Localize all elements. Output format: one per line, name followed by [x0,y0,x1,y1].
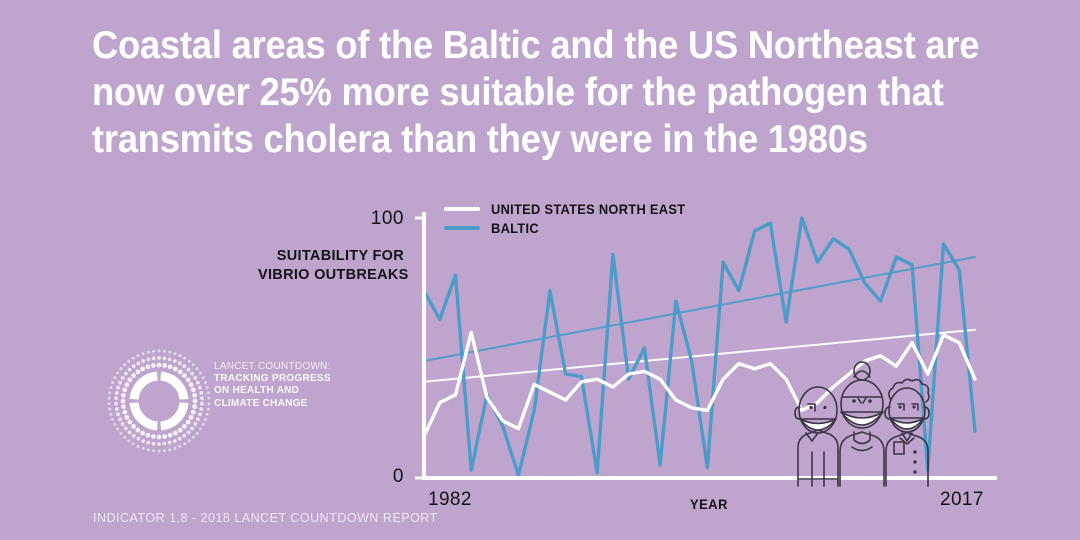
logo-dot [193,399,198,404]
logo-dot [187,368,191,372]
logo-dot [196,417,200,421]
logo-dot [157,442,161,446]
logo-dot [198,412,202,416]
legend-item-us: UNITED STATES NORTH EAST [444,199,702,218]
y-axis-label-line-2: VIBRIO OUTBREAKS [258,266,404,285]
logo-dot [196,432,199,435]
logo-dot [142,352,145,355]
logo-dot [207,397,210,400]
logo-dot [200,402,204,406]
three-people-masks-illustration [782,352,942,492]
legend-swatch-icon [444,207,480,211]
logo-dot [168,441,172,445]
logo-dot [183,442,186,445]
logo-dot [162,363,167,368]
logo-dot [186,420,191,425]
logo-dot [202,376,205,379]
logo-dot [121,399,126,404]
logo-dot [135,428,140,433]
logo-dot [135,369,140,374]
logo-dot [183,357,186,360]
logo-dot [178,445,181,448]
logo-dot [109,413,112,416]
logo-dot [152,449,155,452]
logo-dot [140,367,145,372]
logo-dot [157,363,162,368]
logo-dot [136,437,140,441]
logo-dot [108,402,111,405]
logo-dot [189,382,194,387]
logo-dot [157,356,161,360]
logo-dot [111,418,114,421]
logo-dot [151,363,156,368]
logo-dot [168,433,173,438]
logo-dot [121,393,126,398]
logo-dot [123,436,126,439]
infographic-canvas: Coastal areas of the Baltic and the US N… [0,0,1080,540]
logo-dot [113,376,116,379]
logo-dot [118,417,122,421]
logo-dot [114,402,118,406]
logo-dot [123,363,126,366]
logo-dot [168,351,171,354]
logo-dot [186,377,191,382]
logo-dot [119,367,122,370]
logo-dot [145,364,150,369]
logo-dot [199,428,202,431]
logo-dot [158,350,161,353]
logo-dot [141,439,145,443]
logo-dot [188,439,191,442]
logo-dot [193,376,197,380]
logo-dot [116,386,120,390]
logo-dot [127,377,132,382]
legend-label-baltic: BALTIC [491,220,539,236]
logo-dot [108,391,111,394]
logo-dot [192,393,197,398]
y-axis-tick-min: 0 [352,466,404,488]
logo-dot [206,386,209,389]
logo-dot [124,372,128,376]
logo-dot [163,449,166,452]
logo-dot [122,387,127,392]
logo-dot [199,407,203,411]
y-axis-label: SUITABILITY FOR VIBRIO OUTBREAKS [258,247,404,285]
logo-dot [127,439,130,442]
chart-legend: UNITED STATES NORTH EAST BALTIC [444,199,702,237]
logo-dot [168,448,171,451]
report-credit: INDICATOR 1.8 - 2018 LANCET COUNTDOWN RE… [93,511,438,525]
logo-dot [196,367,199,370]
logo-dot [173,439,177,443]
logo-dot [109,386,112,389]
x-axis-tick-start: 1982 [428,489,472,511]
logo-dot [199,371,202,374]
logo-dot [132,364,136,368]
logo-dot [190,372,194,376]
logo-dot [189,415,194,420]
logo-dot [125,415,130,420]
logo-dot [127,360,130,363]
logo-dot [207,402,210,405]
logo-dot [145,433,150,438]
logo-dot [204,418,207,421]
logo-dot [163,350,166,353]
person-middle-icon [840,362,884,486]
logo-dot [158,450,161,453]
logo-dot [173,367,178,372]
logo-dot [157,435,162,440]
logo-dot [131,373,136,378]
logo-dot [193,422,197,426]
logo-dot [152,442,156,446]
logo-dot [192,363,195,366]
logo-dot [116,428,119,431]
logo-dot [121,422,125,426]
logo-dot [116,371,119,374]
logo-dot [188,360,191,363]
logo-dot [121,376,125,380]
logo-dot [114,396,118,400]
legend-swatch-icon [444,226,480,230]
logo-dot [173,352,176,355]
logo-dot [108,397,111,400]
logo-dot [162,442,166,446]
logo-dot [146,441,150,445]
logo-dot [142,447,145,450]
logo-dot [199,391,203,395]
logo-dot [192,436,195,439]
logo-dot [132,434,136,438]
logo-dot [132,357,135,360]
legend-label-us: UNITED STATES NORTH EAST [491,201,685,217]
people-icon [782,352,942,487]
logo-mark-icon [104,348,214,454]
logo-dot [182,434,186,438]
logo-dot [173,359,177,363]
logo-dot [207,391,210,394]
logo-dot [147,448,150,451]
person-right-icon [885,379,929,486]
logo-dot [128,430,132,434]
logo-dot [198,386,202,390]
logo-dot [162,356,166,360]
logo-line-1: LANCET COUNTDOWN: [214,360,347,372]
logo-dot [152,356,156,360]
logo-dot [115,407,119,411]
logo-dot [190,427,194,431]
logo-dot [200,396,204,400]
logo-dot [178,437,182,441]
logo-dot [137,445,140,448]
logo-wordmark: LANCET COUNTDOWN: TRACKING PROGRESS ON H… [214,360,347,409]
logo-dot [125,382,130,387]
logo-dot [182,373,187,378]
logo-dot [119,432,122,435]
logo-dot [162,434,167,439]
logo-dot [196,381,200,385]
logo-dot [178,354,181,357]
logo-dot [136,361,140,365]
logo-dot [108,408,111,411]
person-left-icon [795,387,838,486]
logo-dot [116,412,120,416]
logo-dot [113,423,116,426]
logo-dot [178,428,183,433]
logo-dot [137,354,140,357]
logo-line-2: TRACKING PROGRESS [214,372,347,384]
logo-dot [146,357,150,361]
logo-dot [168,357,172,361]
y-axis-label-line-1: SUITABILITY FOR [258,247,404,266]
logo-dot [173,431,178,436]
logo-dot [124,427,128,431]
logo-dot [151,434,156,439]
logo-dot [192,404,197,409]
logo-dot [206,413,209,416]
logo-dot [202,423,205,426]
logo-dot [207,408,210,411]
x-axis-tick-end: 2017 [940,489,984,511]
logo-dot [191,410,196,415]
logo-line-4: CLIMATE CHANGE [214,397,347,409]
logo-dot [115,391,119,395]
logo-dot [131,424,136,429]
logo-dot [141,359,145,363]
legend-item-baltic: BALTIC [444,218,702,237]
logo-dot [147,351,150,354]
logo-dot [121,404,126,409]
x-axis-label: YEAR [690,496,728,512]
logo-dot [128,368,132,372]
logo-dot [182,424,187,429]
logo-dot [152,350,155,353]
logo-dot [182,364,186,368]
lancet-countdown-logo: LANCET COUNTDOWN: TRACKING PROGRESS ON H… [104,348,354,454]
logo-dot [173,447,176,450]
logo-dot [191,387,196,392]
logo-dot [178,369,183,374]
logo-dot [168,364,173,369]
logo-dot [132,442,135,445]
logo-dot [127,420,132,425]
logo-dot [111,381,114,384]
logo-dot [140,431,145,436]
logo-dot [122,410,127,415]
logo-dot [187,430,191,434]
logo-line-3: ON HEALTH AND [214,384,347,396]
logo-dot [204,381,207,384]
logo-dot [178,361,182,365]
y-axis-tick-max: 100 [352,208,404,230]
logo-dot [118,381,122,385]
